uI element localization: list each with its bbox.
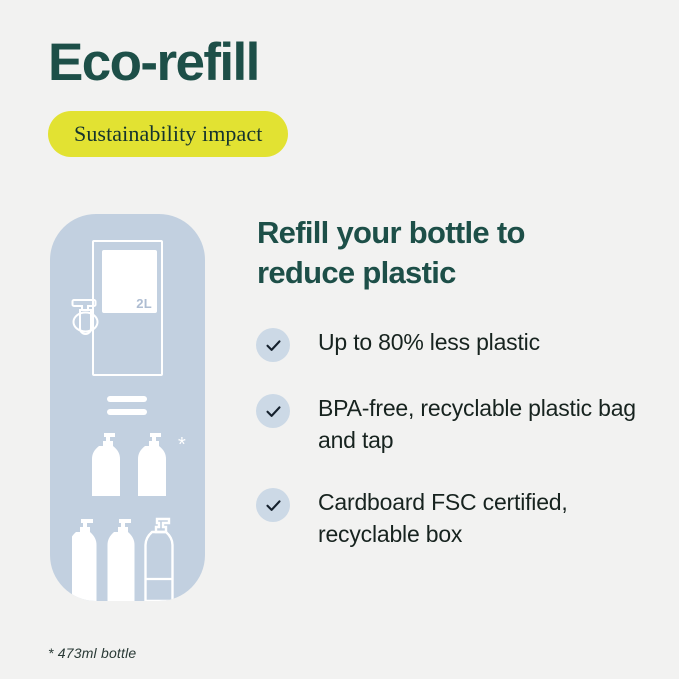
tap-icon [67, 296, 104, 341]
check-icon [256, 328, 290, 362]
footnote: * 473ml bottle [48, 645, 136, 661]
status-badge: Sustainability impact [48, 111, 288, 157]
carton-volume-label: 2L [136, 296, 152, 311]
check-icon [256, 488, 290, 522]
equals-sign-icon [107, 396, 147, 415]
list-item: Cardboard FSC certified, recyclable box [256, 486, 656, 550]
list-item: Up to 80% less plastic [256, 326, 656, 362]
badge-label: Sustainability impact [74, 121, 262, 147]
bottle-pair-icon [80, 430, 176, 496]
check-icon [256, 394, 290, 428]
list-item: BPA-free, recyclable plastic bag and tap [256, 392, 656, 456]
carton-label-area: 2L [102, 250, 157, 313]
feature-label: Up to 80% less plastic [318, 326, 540, 358]
feature-label: BPA-free, recyclable plastic bag and tap [318, 392, 656, 456]
page-title: Eco-refill [48, 32, 259, 94]
feature-list: Up to 80% less plastic BPA-free, recycla… [256, 326, 656, 580]
section-headline: Refill your bottle to reduce plastic [257, 213, 617, 293]
feature-label: Cardboard FSC certified, recyclable box [318, 486, 656, 550]
eco-refill-infographic: Eco-refill Sustainability impact 2L [0, 0, 679, 679]
bottle-trio-icon [72, 517, 185, 601]
refill-illustration-panel: 2L * [50, 214, 205, 601]
asterisk-mark: * [178, 435, 186, 455]
